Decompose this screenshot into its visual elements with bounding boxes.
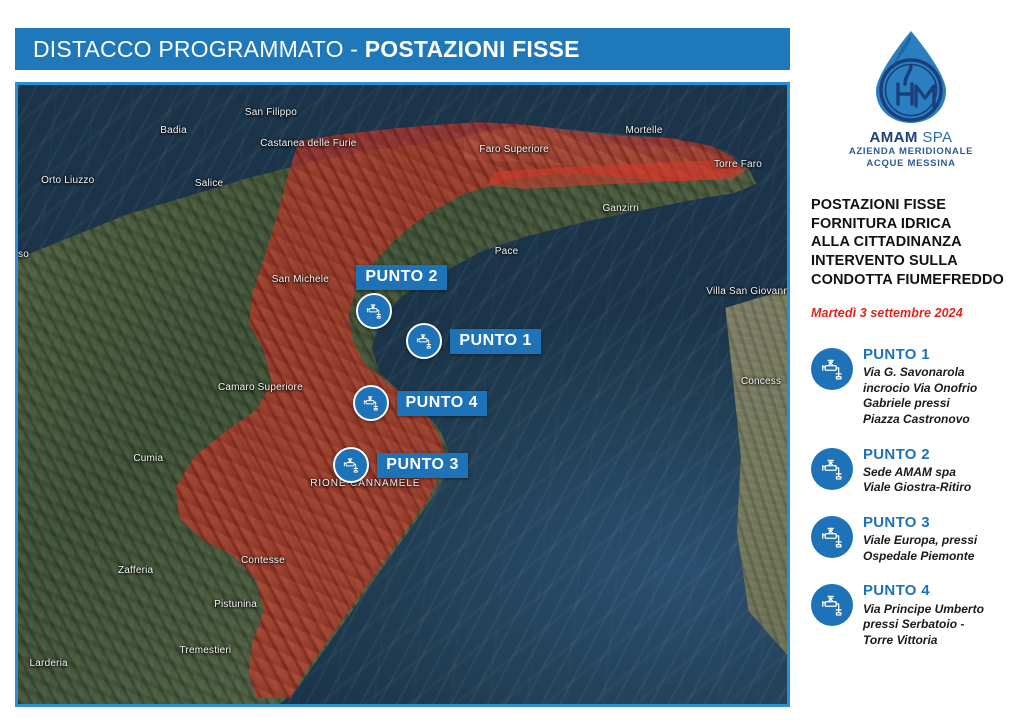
punto-description-line: Piazza Castronovo — [863, 412, 977, 428]
map-marker-punto-3[interactable]: PUNTO 3 — [333, 447, 468, 483]
headline-line-5: CONDOTTA FIUMEFREDDO — [811, 271, 1016, 290]
punto-description-line: Ospedale Piemonte — [863, 549, 977, 565]
punto-text-block: PUNTO 3Viale Europa, pressiOspedale Piem… — [863, 514, 977, 564]
map-marker-punto-4[interactable]: PUNTO 4 — [353, 385, 488, 421]
map-canvas[interactable]: San FilippoBadiaCastanea delle FurieFaro… — [18, 85, 787, 704]
faucet-tap-icon — [811, 584, 853, 626]
faucet-tap-icon — [811, 448, 853, 490]
sidebar: AMAM SPA AZIENDA MERIDIONALE ACQUE MESSI… — [806, 20, 1016, 710]
logo-subtitle-line2: ACQUE MESSINA — [806, 158, 1016, 170]
punto-text-block: PUNTO 2Sede AMAM spaViale Giostra-Ritiro — [863, 446, 971, 496]
punto-title: PUNTO 1 — [863, 346, 977, 363]
punto-description: Via G. Savonarolaincrocio Via OnofrioGab… — [863, 365, 977, 427]
punto-description-line: Via Principe Umberto — [863, 602, 984, 618]
punto-text-block: PUNTO 4Via Principe Umbertopressi Serbat… — [863, 582, 984, 648]
map-frame[interactable]: San FilippoBadiaCastanea delle FurieFaro… — [15, 82, 790, 707]
punto-description-line: Sede AMAM spa — [863, 465, 971, 481]
headline-line-1: POSTAZIONI FISSE — [811, 196, 1016, 215]
faucet-tap-icon — [811, 348, 853, 390]
logo-name-light: SPA — [918, 129, 953, 146]
punto-text-block: PUNTO 1Via G. Savonarolaincrocio Via Ono… — [863, 346, 977, 428]
punto-list-item[interactable]: PUNTO 4Via Principe Umbertopressi Serbat… — [811, 582, 1016, 648]
punto-title: PUNTO 3 — [863, 514, 977, 531]
punto-description: Viale Europa, pressiOspedale Piemonte — [863, 533, 977, 564]
headline-block: POSTAZIONI FISSE FORNITURA IDRICA ALLA C… — [806, 196, 1016, 290]
faucet-tap-icon[interactable] — [356, 293, 392, 329]
headline-line-2: FORNITURA IDRICA — [811, 215, 1016, 234]
header-title-light: DISTACCO PROGRAMMATO - — [33, 36, 365, 63]
logo-subtitle-line1: AZIENDA MERIDIONALE — [806, 146, 1016, 158]
headline-line-4: INTERVENTO SULLA — [811, 252, 1016, 271]
amam-logo-block: AMAM SPA AZIENDA MERIDIONALE ACQUE MESSI… — [806, 20, 1016, 170]
punto-description-line: Viale Giostra-Ritiro — [863, 480, 971, 496]
map-marker-punto-1[interactable]: PUNTO 1 — [406, 323, 541, 359]
headline-line-3: ALLA CITTADINANZA — [811, 233, 1016, 252]
logo-wordmark: AMAM SPA — [806, 129, 1016, 146]
faucet-tap-icon[interactable] — [353, 385, 389, 421]
water-drop-am-monogram-icon — [868, 28, 954, 126]
punto-list: PUNTO 1Via G. Savonarolaincrocio Via Ono… — [806, 346, 1016, 649]
punto-description-line: pressi Serbatoio - — [863, 617, 984, 633]
punto-list-item[interactable]: PUNTO 3Viale Europa, pressiOspedale Piem… — [811, 514, 1016, 564]
map-marker-punto-2[interactable]: PUNTO 2 — [356, 265, 447, 329]
punto-description-line: Via G. Savonarola — [863, 365, 977, 381]
faucet-tap-icon[interactable] — [406, 323, 442, 359]
map-marker-label: PUNTO 3 — [377, 453, 468, 478]
faucet-tap-icon[interactable] — [333, 447, 369, 483]
map-marker-label: PUNTO 2 — [356, 265, 447, 290]
faucet-tap-icon — [811, 516, 853, 558]
event-date: Martedì 3 settembre 2024 — [806, 306, 1016, 320]
header-banner: DISTACCO PROGRAMMATO - POSTAZIONI FISSE — [15, 28, 790, 70]
logo-name-bold: AMAM — [870, 129, 918, 146]
header-title-bold: POSTAZIONI FISSE — [365, 36, 580, 63]
punto-list-item[interactable]: PUNTO 2Sede AMAM spaViale Giostra-Ritiro — [811, 446, 1016, 496]
punto-description: Sede AMAM spaViale Giostra-Ritiro — [863, 465, 971, 496]
punto-description: Via Principe Umbertopressi Serbatoio -To… — [863, 602, 984, 649]
punto-description-line: Torre Vittoria — [863, 633, 984, 649]
map-marker-label: PUNTO 1 — [450, 329, 541, 354]
punto-description-line: incrocio Via Onofrio — [863, 381, 977, 397]
map-marker-label: PUNTO 4 — [397, 391, 488, 416]
punto-list-item[interactable]: PUNTO 1Via G. Savonarolaincrocio Via Ono… — [811, 346, 1016, 428]
punto-title: PUNTO 4 — [863, 582, 984, 599]
punto-title: PUNTO 2 — [863, 446, 971, 463]
punto-description-line: Viale Europa, pressi — [863, 533, 977, 549]
punto-description-line: Gabriele pressi — [863, 396, 977, 412]
